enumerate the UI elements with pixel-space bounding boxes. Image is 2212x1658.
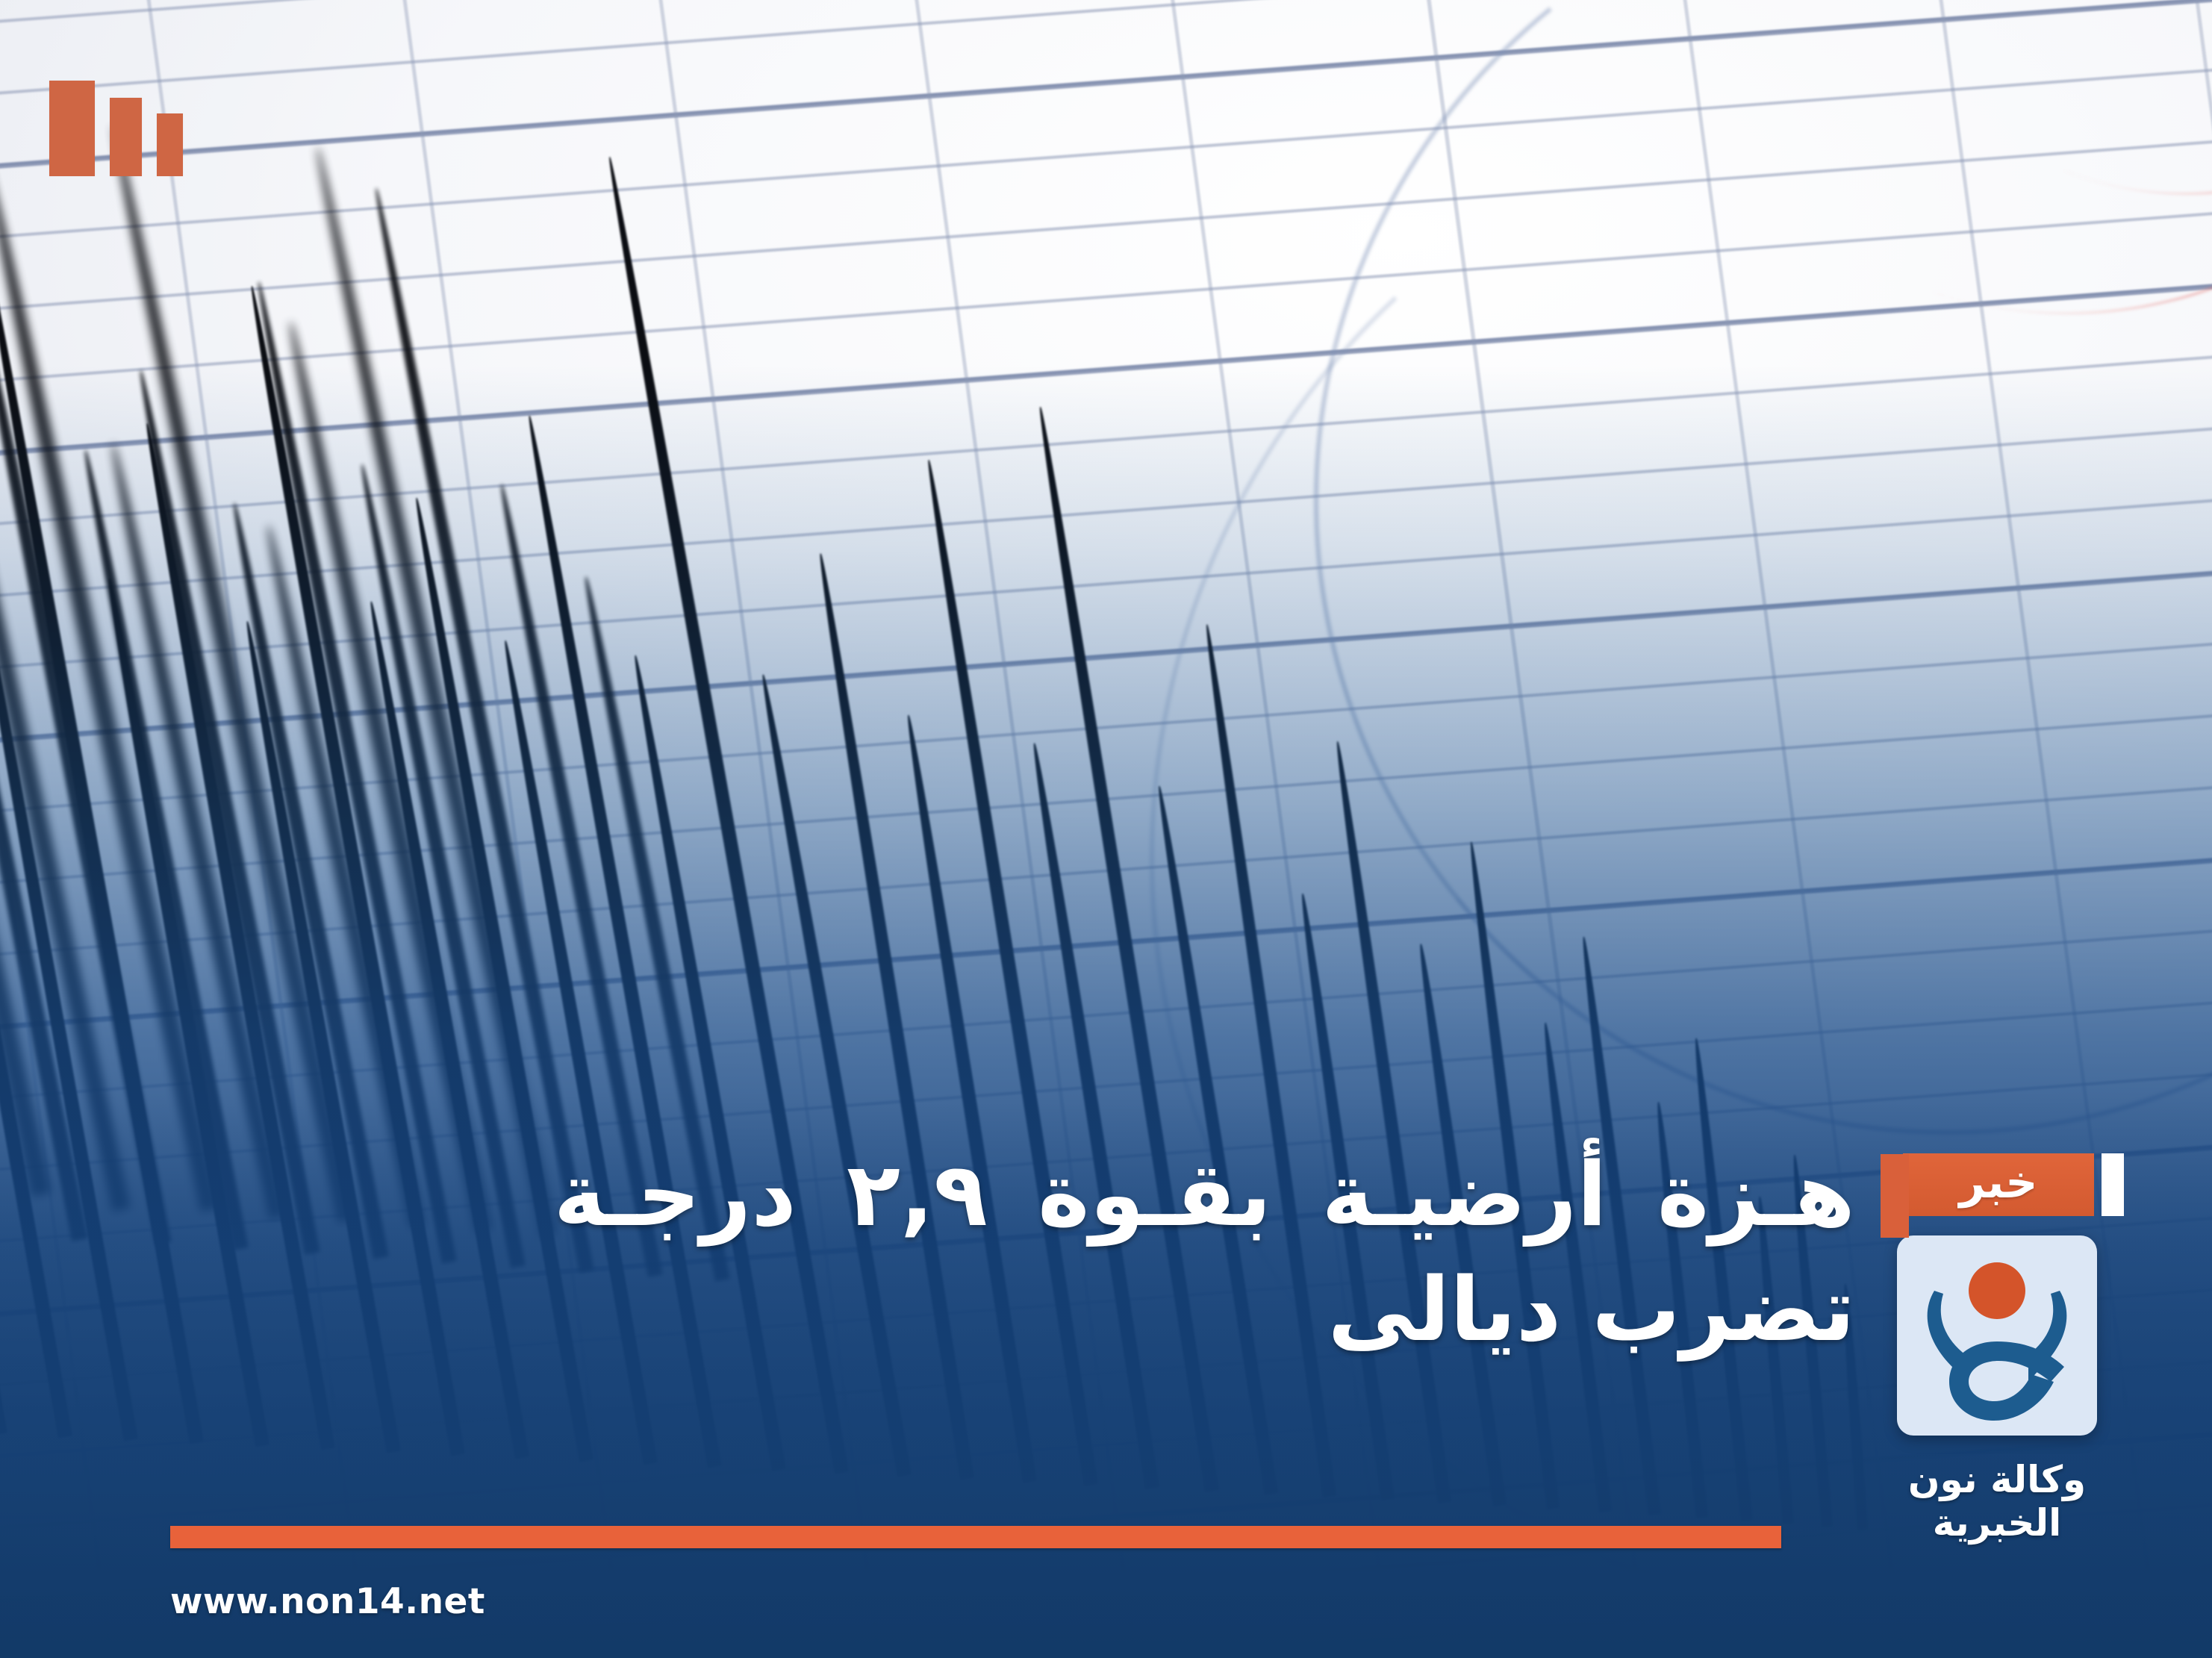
three-bars-mark-icon [49,81,183,176]
headline-marker [1881,1154,1909,1238]
noon-agency-logo-icon [1897,1235,2097,1436]
agency-name: وكالة نون الخبرية [1870,1458,2124,1545]
bar-1 [49,81,95,176]
bar-3 [157,113,183,176]
bar-2 [110,98,142,176]
headline-line-2: تضرب ديالى [105,1253,1855,1367]
site-url[interactable]: www.non14.net [170,1581,485,1622]
news-badge-label: خبر [1903,1153,2094,1216]
news-badge: خبر [1903,1153,2124,1216]
headline-line-1: هـزة أرضيـة بقـوة ٢,٩ درجـة [105,1138,1855,1252]
news-badge-tick [2102,1153,2124,1216]
headline: هـزة أرضيـة بقـوة ٢,٩ درجـة تضرب ديالى [105,1138,1855,1367]
footer-divider [170,1526,1781,1548]
news-card: خبر وكالة نون الخبرية هـزة أرضيـة بقـوة … [0,0,2212,1658]
